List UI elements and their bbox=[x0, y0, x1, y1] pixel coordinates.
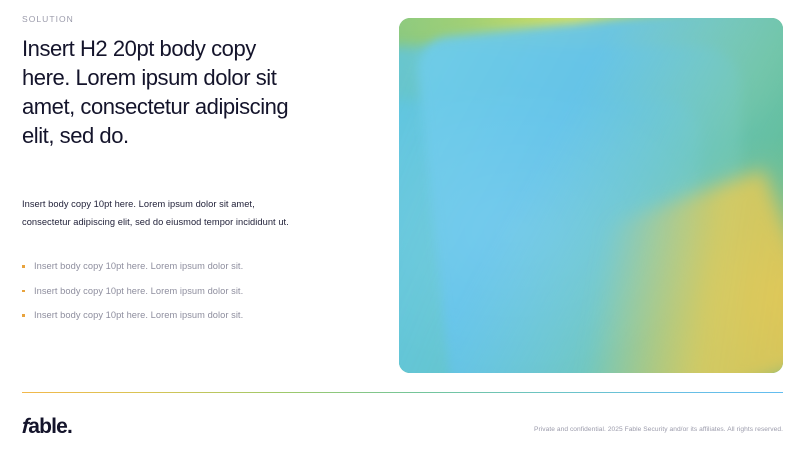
bullet-square-icon bbox=[22, 314, 25, 317]
list-item: Insert body copy 10pt here. Lorem ipsum … bbox=[22, 258, 292, 276]
body-paragraph: Insert body copy 10pt here. Lorem ipsum … bbox=[22, 196, 294, 231]
footer-gradient-divider bbox=[22, 392, 783, 393]
content-column: SOLUTION Insert H2 20pt body copy here. … bbox=[22, 14, 312, 150]
logo-f-glyph: f bbox=[21, 416, 28, 437]
hero-haze-layer bbox=[399, 18, 783, 373]
logo-rest-glyph: able bbox=[28, 415, 67, 438]
hero-gradient-image bbox=[399, 18, 783, 373]
page-title: Insert H2 20pt body copy here. Lorem ips… bbox=[22, 34, 300, 150]
brand-logo: fable . bbox=[22, 416, 73, 437]
list-item: Insert body copy 10pt here. Lorem ipsum … bbox=[22, 283, 292, 301]
slide-canvas: SOLUTION Insert H2 20pt body copy here. … bbox=[0, 0, 800, 450]
eyebrow-label: SOLUTION bbox=[22, 14, 312, 25]
list-item-label: Insert body copy 10pt here. Lorem ipsum … bbox=[34, 286, 243, 296]
logo-period-glyph: . bbox=[67, 416, 73, 437]
list-item-label: Insert body copy 10pt here. Lorem ipsum … bbox=[34, 261, 243, 271]
list-item-label: Insert body copy 10pt here. Lorem ipsum … bbox=[34, 310, 243, 320]
bullet-square-icon bbox=[22, 265, 25, 268]
bullet-square-icon bbox=[22, 290, 25, 293]
legal-notice: Private and confidential. 2025 Fable Sec… bbox=[534, 425, 783, 435]
list-item: Insert body copy 10pt here. Lorem ipsum … bbox=[22, 307, 292, 325]
bullet-list: Insert body copy 10pt here. Lorem ipsum … bbox=[22, 258, 292, 325]
logo-wordmark: fable bbox=[22, 416, 67, 437]
